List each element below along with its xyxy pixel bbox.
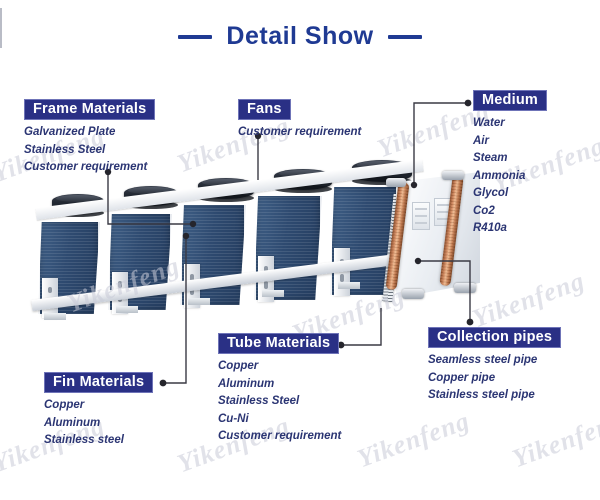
callout-tube-materials: Tube Materials Copper Aluminum Stainless…	[218, 333, 341, 446]
list-item: Glycol	[473, 185, 547, 203]
list-item: Steam	[473, 150, 547, 168]
title-dash-right	[388, 35, 422, 39]
callout-frame-materials: Frame Materials Galvanized Plate Stainle…	[24, 99, 155, 177]
list-item: Copper	[218, 358, 341, 376]
list-item: Customer requirement	[238, 124, 361, 142]
list-item: Air	[473, 133, 547, 151]
list-item: Water	[473, 115, 547, 133]
callout-collection-pipes: Collection pipes Seamless steel pipe Cop…	[428, 327, 561, 405]
watermark: Yikenfeng	[508, 406, 600, 474]
pipe-flange-bottom-left	[402, 289, 424, 299]
callout-fin-materials: Fin Materials Copper Aluminum Stainless …	[44, 372, 153, 450]
list-item: Stainless Steel	[24, 142, 155, 160]
base-foot-4	[262, 290, 284, 297]
list-item: Ammonia	[473, 168, 547, 186]
callout-items-frame-materials: Galvanized Plate Stainless Steel Custome…	[24, 124, 155, 177]
list-item: Co2	[473, 203, 547, 221]
list-item: Galvanized Plate	[24, 124, 155, 142]
list-item: Customer requirement	[24, 159, 155, 177]
callout-caption-tube-materials: Tube Materials	[218, 333, 339, 354]
list-item: Seamless steel pipe	[428, 352, 561, 370]
page-title: Detail Show	[226, 22, 373, 51]
list-item: Customer requirement	[218, 428, 341, 446]
callout-medium: Medium Water Air Steam Ammonia Glycol Co…	[473, 90, 547, 238]
list-item: Aluminum	[218, 376, 341, 394]
pipe-flange-bottom-right	[454, 283, 476, 293]
list-item: Copper	[44, 397, 153, 415]
callout-items-fin-materials: Copper Aluminum Stainless steel	[44, 397, 153, 450]
detail-show-page: Detail Show	[0, 0, 600, 500]
base-foot-2	[116, 306, 138, 313]
leader-dot-medium-label	[465, 100, 472, 107]
list-item: Aluminum	[44, 415, 153, 433]
callout-items-tube-materials: Copper Aluminum Stainless Steel Cu-Ni Cu…	[218, 358, 341, 446]
leader-dot-fin-label	[160, 380, 167, 387]
watermark: Yikenfeng	[353, 406, 474, 474]
list-item: Stainless Steel	[218, 393, 341, 411]
list-item: Stainless steel	[44, 432, 153, 450]
end-panel	[396, 172, 480, 298]
callout-caption-frame-materials: Frame Materials	[24, 99, 155, 120]
list-item: R410a	[473, 220, 547, 238]
list-item: Cu-Ni	[218, 411, 341, 429]
pipe-flange-top-right	[442, 171, 464, 180]
dry-cooler-unit	[20, 150, 490, 340]
callout-caption-fin-materials: Fin Materials	[44, 372, 153, 393]
pipe-flange-top-left	[386, 178, 406, 187]
callout-items-fans: Customer requirement	[238, 124, 361, 142]
callout-items-medium: Water Air Steam Ammonia Glycol Co2 R410a	[473, 115, 547, 238]
callout-items-collection-pipes: Seamless steel pipe Copper pipe Stainles…	[428, 352, 561, 405]
title-dash-left	[178, 35, 212, 39]
base-foot-5	[338, 282, 360, 289]
callout-fans: Fans Customer requirement	[238, 99, 361, 142]
base-foot-3	[188, 298, 210, 305]
nameplate-1	[412, 202, 430, 230]
product-image	[20, 150, 490, 340]
base-foot-1	[44, 313, 66, 320]
page-title-area: Detail Show	[0, 22, 600, 51]
list-item: Stainless steel pipe	[428, 387, 561, 405]
list-item: Copper pipe	[428, 370, 561, 388]
callout-caption-collection-pipes: Collection pipes	[428, 327, 561, 348]
callout-caption-fans: Fans	[238, 99, 291, 120]
callout-caption-medium: Medium	[473, 90, 547, 111]
